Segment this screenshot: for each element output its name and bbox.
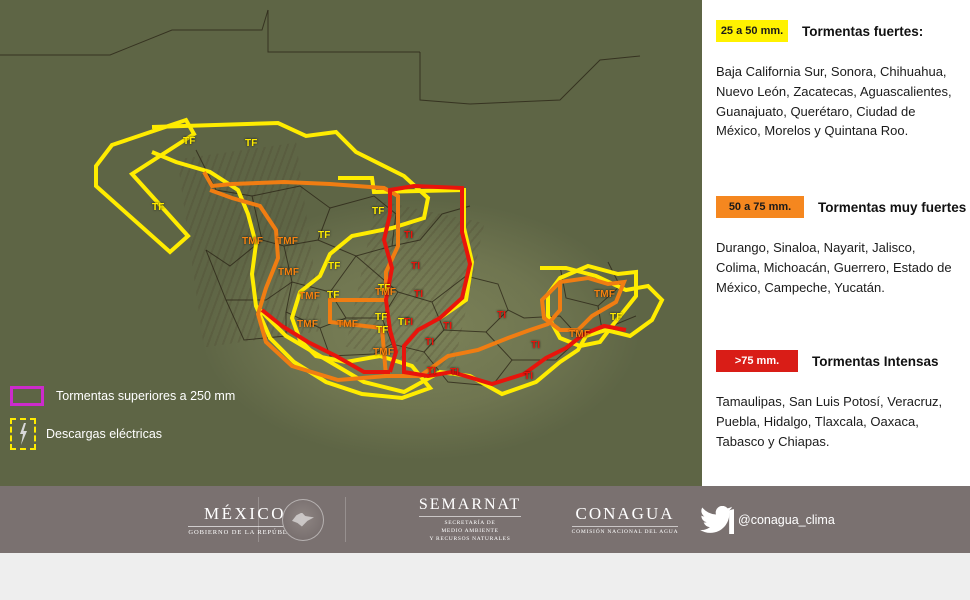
map-legend-item-lightning: Descargas eléctricas: [10, 418, 235, 450]
legend-title: Tormentas Intensas: [812, 354, 939, 369]
map-legend: Tormentas superiores a 250 mm Descargas …: [10, 386, 235, 462]
logo-conagua-name: CONAGUA: [572, 504, 679, 524]
divider: [572, 526, 679, 527]
zone-label-tmf: TMF: [337, 320, 358, 330]
logo-semarnat: SEMARNAT SECRETARÍA DE MEDIO AMBIENTE Y …: [380, 486, 560, 553]
zone-label-tf: TF: [245, 139, 258, 149]
legend-title: Tormentas muy fuertes: [818, 200, 966, 215]
legend-block-muy-fuertes: 50 a 75 mm. Tormentas muy fuertes Durang…: [702, 196, 970, 297]
zone-label-tf: TF: [375, 313, 388, 323]
screenshot-root: TFTFTFTFTFTFTFTFTFTFTFTFTMFTMFTMFTMFTMFT…: [0, 0, 970, 600]
map-legend-label: Descargas eléctricas: [46, 427, 162, 441]
zone-label-tmf: TMF: [278, 268, 299, 278]
zone-label-ti: TI: [443, 322, 452, 332]
weather-map[interactable]: TFTFTFTFTFTFTFTFTFTFTFTFTMFTMFTMFTMFTMFT…: [0, 0, 702, 486]
zone-label-ti: TI: [497, 311, 506, 321]
logo-conagua-subtitle: COMISIÓN NACIONAL DEL AGUA: [572, 529, 679, 535]
zone-label-tf: TF: [183, 137, 196, 147]
map-legend-item-250mm: Tormentas superiores a 250 mm: [10, 386, 235, 406]
legend-panel: 25 a 50 mm. Tormentas fuertes: Baja Cali…: [702, 0, 970, 486]
zone-label-tmf: TMF: [297, 320, 318, 330]
legend-block-intensas: >75 mm. Tormentas Intensas Tamaulipas, S…: [702, 350, 970, 451]
chip-50-75mm: 50 a 75 mm.: [716, 196, 804, 218]
divider: [419, 516, 521, 517]
logo-conagua: CONAGUA COMISIÓN NACIONAL DEL AGUA: [540, 486, 710, 553]
footer-bar: MÉXICO GOBIERNO DE LA REPÚBLICA SEMARNAT…: [0, 486, 970, 553]
zone-label-tf: TF: [318, 231, 331, 241]
lightning-bolt-icon: [10, 418, 36, 450]
chip-over-75mm: >75 mm.: [716, 350, 798, 372]
zone-label-tf: TF: [610, 313, 623, 323]
zone-label-ti: TI: [531, 341, 540, 351]
magenta-rectangle-swatch: [10, 386, 44, 406]
legend-body: Tamaulipas, San Luis Potosí, Veracruz, P…: [702, 392, 970, 451]
legend-header: 25 a 50 mm. Tormentas fuertes:: [702, 20, 970, 42]
logo-semarnat-name: SEMARNAT: [419, 496, 521, 514]
legend-block-fuertes: 25 a 50 mm. Tormentas fuertes: Baja Cali…: [702, 20, 970, 141]
zone-label-ti: TI: [411, 262, 420, 272]
zone-label-tf: TF: [376, 326, 389, 336]
logo-semarnat-sub1: SECRETARÍA DE: [419, 519, 521, 527]
zone-label-tf: TF: [372, 207, 385, 217]
zone-label-tmf: TMF: [375, 288, 396, 298]
divider: [258, 497, 259, 542]
legend-title: Tormentas fuertes:: [802, 24, 923, 39]
zone-label-ti: TI: [414, 290, 423, 300]
map-legend-label: Tormentas superiores a 250 mm: [56, 389, 235, 403]
legend-body: Durango, Sinaloa, Nayarit, Jalisco, Coli…: [702, 238, 970, 297]
zone-label-ti: TI: [404, 231, 413, 241]
legend-header: 50 a 75 mm. Tormentas muy fuertes: [702, 196, 970, 218]
zone-label-ti: TI: [404, 318, 413, 328]
zone-label-tmf: TMF: [594, 290, 615, 300]
legend-body: Baja California Sur, Sonora, Chihuahua, …: [702, 62, 970, 141]
zone-label-ti: TI: [524, 372, 533, 382]
zone-label-tmf: TMF: [277, 237, 298, 247]
zone-label-ti: TI: [427, 367, 436, 377]
divider: [345, 497, 346, 542]
twitter-bird-icon: [700, 506, 734, 534]
zone-label-tf: TF: [328, 262, 341, 272]
logo-semarnat-sub3: Y RECURSOS NATURALES: [419, 535, 521, 543]
zone-label-ti: TI: [450, 368, 459, 378]
chip-25-50mm: 25 a 50 mm.: [716, 20, 788, 42]
logo-semarnat-sub2: MEDIO AMBIENTE: [419, 527, 521, 535]
zone-label-tmf: TMF: [299, 292, 320, 302]
legend-header: >75 mm. Tormentas Intensas: [702, 350, 970, 372]
zone-label-tmf: TMF: [569, 330, 590, 340]
zone-label-ti: TI: [425, 338, 434, 348]
mexican-coat-of-arms-icon: [268, 486, 338, 553]
zone-label-tf: TF: [327, 291, 340, 301]
zone-label-tmf: TMF: [242, 237, 263, 247]
twitter-handle-text: @conagua_clima: [738, 513, 835, 527]
zone-label-tmf: TMF: [373, 348, 394, 358]
zone-label-tf: TF: [152, 203, 165, 213]
twitter-handle-block[interactable]: @conagua_clima: [700, 486, 920, 553]
